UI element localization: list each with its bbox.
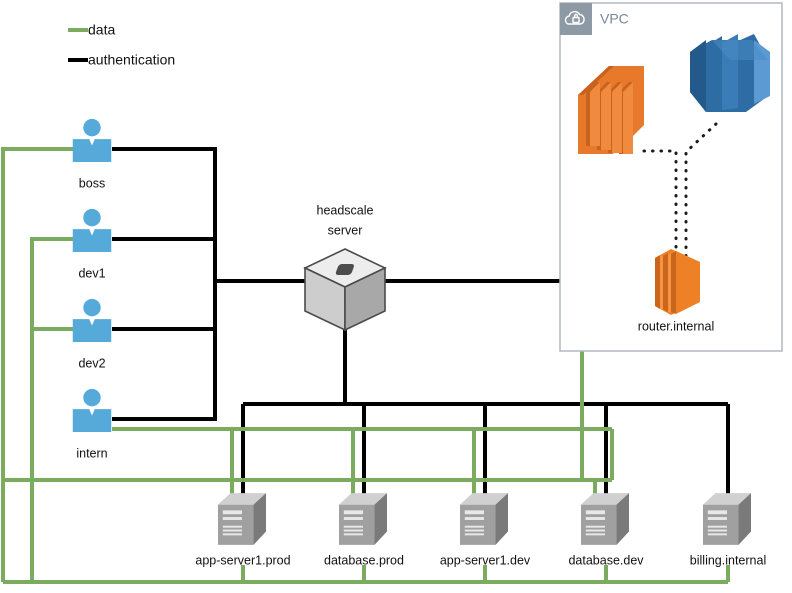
aws-database-stack-icon[interactable] [690,34,770,112]
legend-label-authentication: authentication [88,52,175,68]
server-icon [460,493,508,545]
headscale-label-line1: headscale [317,203,374,217]
user-icon [73,209,112,252]
user-intern[interactable]: intern [73,389,112,460]
user-label-dev2: dev2 [78,356,105,370]
server-icon [703,493,751,545]
user-label-intern: intern [76,446,107,460]
server-billing-internal[interactable]: billing.internal [690,493,766,567]
user-label-dev1: dev1 [78,266,105,280]
server-app-server1-prod[interactable]: app-server1.prod [195,493,290,567]
server-app-server1-dev[interactable]: app-server1.dev [440,493,531,567]
server-label: app-server1.prod [195,553,290,567]
legend-label-data: data [88,22,115,38]
headscale-server[interactable]: headscale server [305,203,385,330]
server-label: billing.internal [690,553,766,567]
user-icon [73,299,112,342]
data-link-boss [3,149,78,582]
data-link-dev1 [32,239,78,582]
user-boss[interactable]: boss [73,119,112,190]
server-label: database.dev [568,553,644,567]
server-icon [581,493,629,545]
user-label-boss: boss [79,176,105,190]
diagram-canvas: data authentication [0,0,792,593]
server-database-dev[interactable]: database.dev [568,493,644,567]
router-label: router.internal [638,319,714,333]
server-icon [339,493,387,545]
vpc-icon-tile [560,3,592,35]
user-icon [73,389,112,432]
vpc-label: VPC [600,11,629,27]
headscale-label-line2: server [328,223,363,237]
server-label: app-server1.dev [440,553,531,567]
server-database-prod[interactable]: database.prod [324,493,404,567]
user-icon [73,119,112,162]
auth-link-intern [112,281,215,419]
network-diagram: data authentication [0,0,792,593]
user-dev2[interactable]: dev2 [73,299,112,370]
user-dev1[interactable]: dev1 [73,209,112,280]
server-icon [218,493,266,545]
server-label: database.prod [324,553,404,567]
cube-server-icon [305,249,385,330]
legend: data authentication [68,22,175,68]
legend-item-authentication: authentication [68,52,175,68]
legend-item-data: data [68,22,115,38]
auth-link-boss [112,149,215,281]
